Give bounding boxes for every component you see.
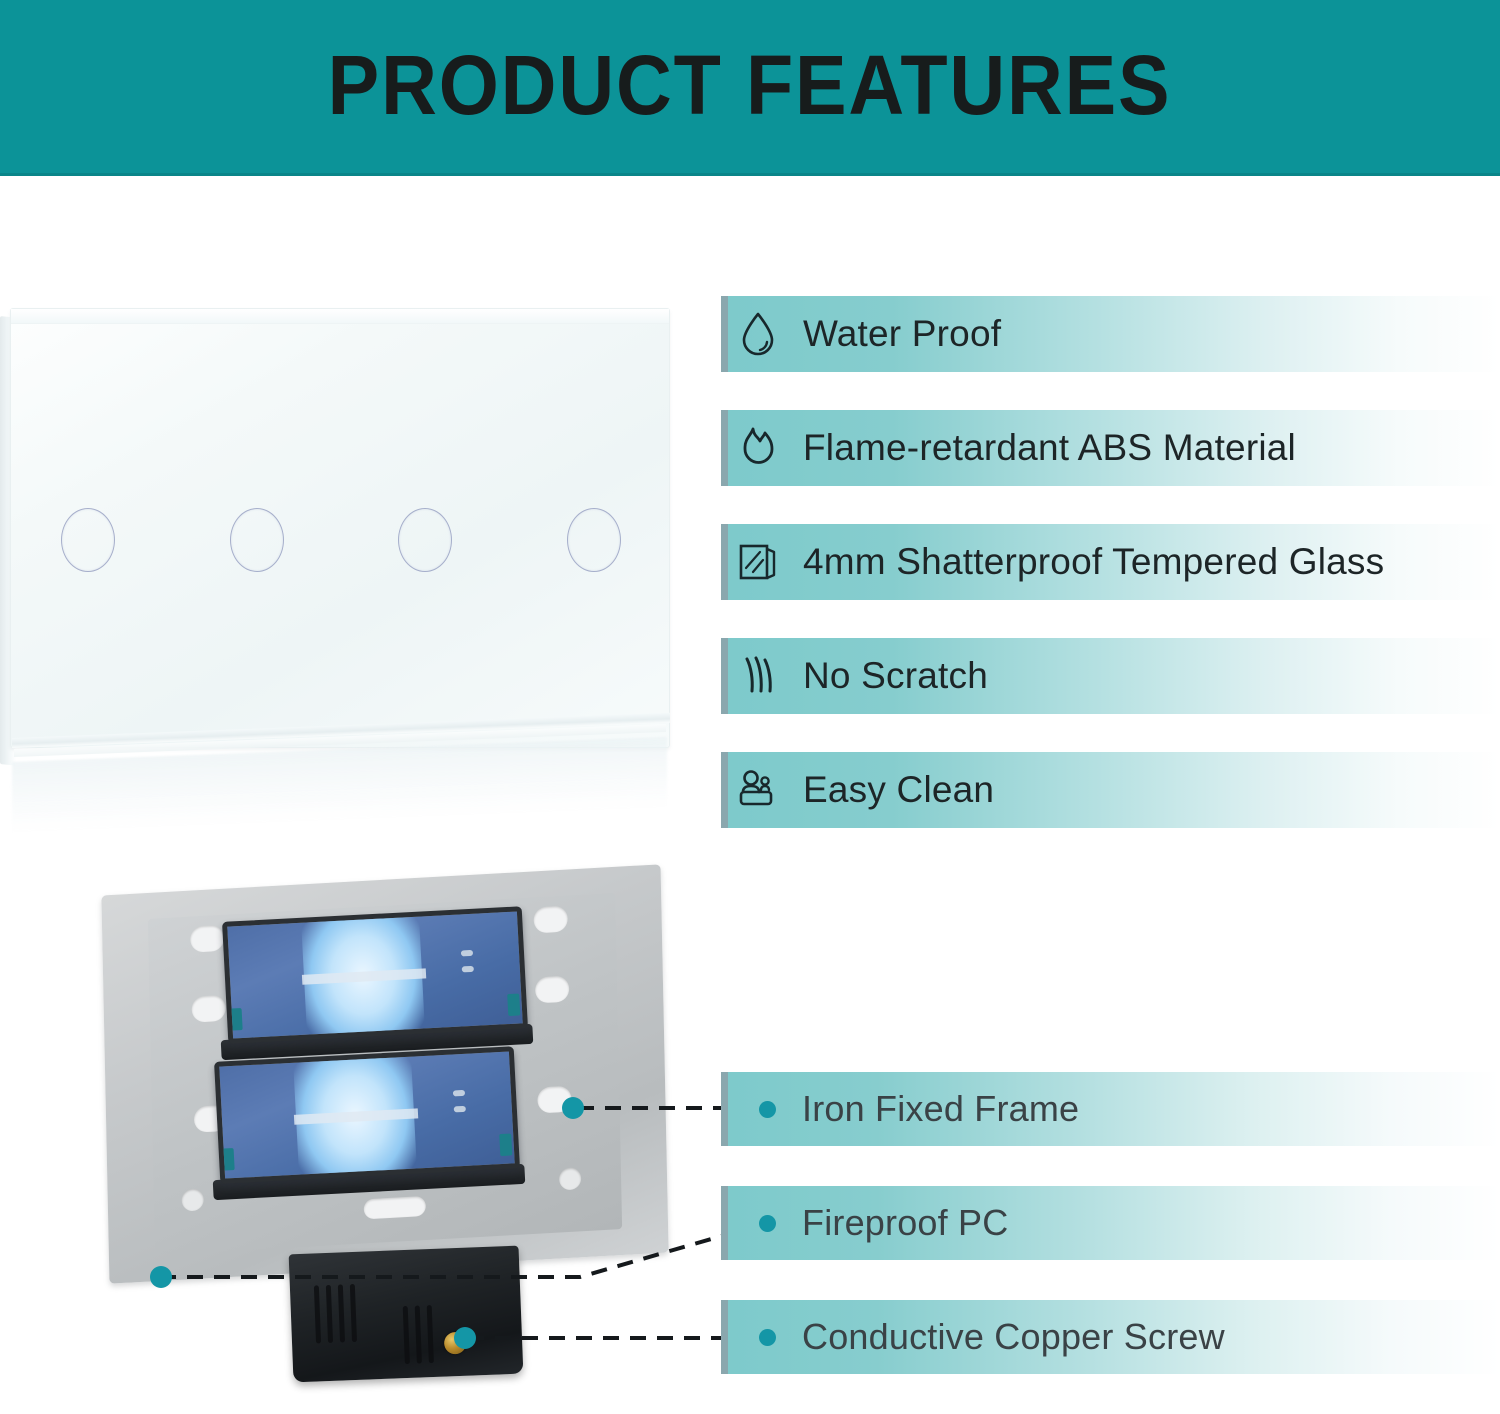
- feature-row-easy-clean: Easy Clean: [721, 752, 1500, 828]
- touch-button-3[interactable]: [398, 508, 452, 572]
- band-left-edge: [721, 1072, 728, 1146]
- feature-label: 4mm Shatterproof Tempered Glass: [803, 541, 1384, 583]
- touch-button-1[interactable]: [61, 508, 115, 572]
- switch-internals-photo: [95, 872, 710, 1382]
- water-drop-icon: [727, 296, 789, 372]
- callout-label: Conductive Copper Screw: [802, 1316, 1225, 1358]
- band-left-edge: [721, 638, 728, 714]
- pcb-pad: [453, 1090, 465, 1097]
- glass-panel-photo: [0, 286, 700, 846]
- feature-label: Easy Clean: [803, 769, 994, 811]
- band-left-edge: [721, 410, 728, 486]
- feature-row-tempered-glass: 4mm Shatterproof Tempered Glass: [721, 524, 1500, 600]
- touch-button-row: [61, 505, 621, 575]
- feature-row-no-scratch: No Scratch: [721, 638, 1500, 714]
- feature-list: Water Proof Flame-retardant ABS Material…: [721, 296, 1500, 866]
- callout-row-conductive-copper-screw: Conductive Copper Screw: [721, 1300, 1500, 1374]
- housing-vent: [350, 1284, 357, 1342]
- feature-row-water-proof: Water Proof: [721, 296, 1500, 372]
- band-left-edge: [721, 524, 728, 600]
- touch-button-2[interactable]: [230, 508, 284, 572]
- pcb-pad: [454, 1106, 466, 1113]
- callout-row-fireproof-pc: Fireproof PC: [721, 1186, 1500, 1260]
- housing-vent: [338, 1284, 345, 1342]
- glass-panel-face: [10, 308, 670, 748]
- pcb-clip: [222, 1148, 235, 1171]
- feature-row-flame-retardant: Flame-retardant ABS Material: [721, 410, 1500, 486]
- page-title: PRODUCT FEATURES: [328, 43, 1172, 133]
- pcb-pad: [462, 966, 474, 973]
- band-left-edge: [721, 752, 728, 828]
- housing-vent: [403, 1306, 410, 1364]
- callout-dot: [759, 1215, 776, 1232]
- band-left-edge: [721, 296, 728, 372]
- housing-vent: [314, 1285, 321, 1343]
- tempered-glass-icon: [727, 524, 789, 600]
- easy-clean-icon: [727, 752, 789, 828]
- feature-label: Water Proof: [803, 313, 1001, 355]
- callout-row-iron-fixed-frame: Iron Fixed Frame: [721, 1072, 1500, 1146]
- pcb-pad: [461, 950, 473, 957]
- housing-vent: [427, 1305, 434, 1363]
- flame-icon: [727, 410, 789, 486]
- plate-slot: [364, 1196, 426, 1219]
- band-left-edge: [721, 1186, 728, 1260]
- callout-list: Iron Fixed Frame Fireproof PC Conductive…: [721, 1072, 1500, 1414]
- fireproof-pc-housing: [289, 1246, 524, 1383]
- pcb-module-lower: [214, 1046, 520, 1184]
- pcb-clip: [230, 1008, 243, 1031]
- feature-label: Flame-retardant ABS Material: [803, 427, 1296, 469]
- callout-dot: [759, 1329, 776, 1346]
- pcb-clip: [507, 993, 520, 1016]
- pcb-module-upper: [222, 906, 528, 1044]
- conductive-copper-screw: [444, 1332, 467, 1355]
- band-left-edge: [721, 1300, 728, 1374]
- callout-label: Fireproof PC: [802, 1202, 1008, 1244]
- scratch-claw-icon: [727, 638, 789, 714]
- pcb-clip: [499, 1133, 512, 1156]
- housing-vent: [326, 1285, 333, 1343]
- feature-label: No Scratch: [803, 655, 988, 697]
- page-header: PRODUCT FEATURES: [0, 0, 1500, 176]
- housing-vent: [415, 1305, 422, 1363]
- touch-button-4[interactable]: [567, 508, 621, 572]
- callout-dot: [759, 1101, 776, 1118]
- callout-label: Iron Fixed Frame: [802, 1088, 1079, 1130]
